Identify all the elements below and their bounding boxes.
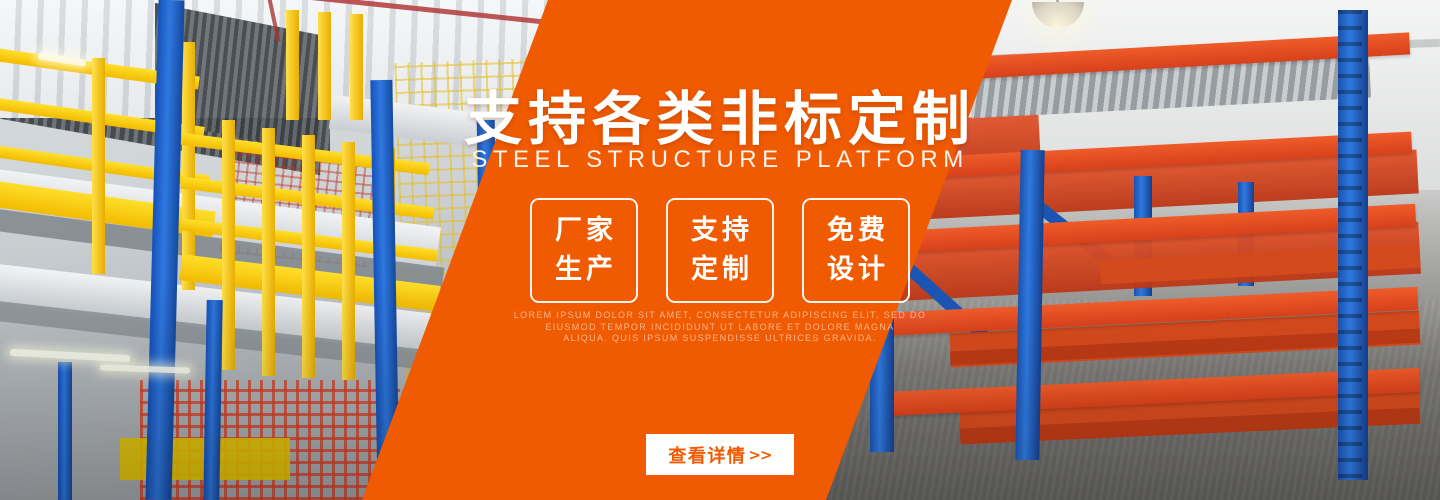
badge-line-1: 支持 — [687, 212, 753, 250]
feature-badge-manufacturer: 厂家 生产 — [530, 198, 638, 303]
cta-container: 查看详情 >> — [0, 434, 1440, 475]
chevron-right-double-icon: >> — [748, 446, 771, 464]
view-details-label: 查看详情 — [668, 442, 746, 468]
feature-badge-group: 厂家 生产 支持 定制 免费 设计 — [0, 198, 1440, 303]
description-text: LOREM IPSUM DOLOR SIT AMET, CONSECTETUR … — [0, 310, 1440, 345]
badge-line-2: 生产 — [551, 251, 617, 289]
page-title: 支持各类非标定制 — [0, 72, 1440, 156]
feature-badge-customization: 支持 定制 — [666, 198, 774, 303]
view-details-button[interactable]: 查看详情 >> — [646, 434, 794, 475]
badge-line-2: 定制 — [687, 251, 753, 289]
badge-line-1: 厂家 — [551, 212, 617, 250]
description-line-2: EIUSMOD TEMPOR INCIDIDUNT UT LABORE ET D… — [0, 322, 1440, 334]
feature-badge-free-design: 免费 设计 — [802, 198, 910, 303]
badge-line-1: 免费 — [823, 212, 889, 250]
promo-banner: 支持各类非标定制 STEEL STRUCTURE PLATFORM 厂家 生产 … — [0, 0, 1440, 500]
banner-content: 支持各类非标定制 STEEL STRUCTURE PLATFORM 厂家 生产 … — [0, 0, 1440, 500]
badge-line-2: 设计 — [823, 251, 889, 289]
page-subtitle: STEEL STRUCTURE PLATFORM — [0, 146, 1440, 174]
description-line-3: ALIQUA. QUIS IPSUM SUSPENDISSE ULTRICES … — [0, 333, 1440, 345]
description-line-1: LOREM IPSUM DOLOR SIT AMET, CONSECTETUR … — [0, 310, 1440, 322]
